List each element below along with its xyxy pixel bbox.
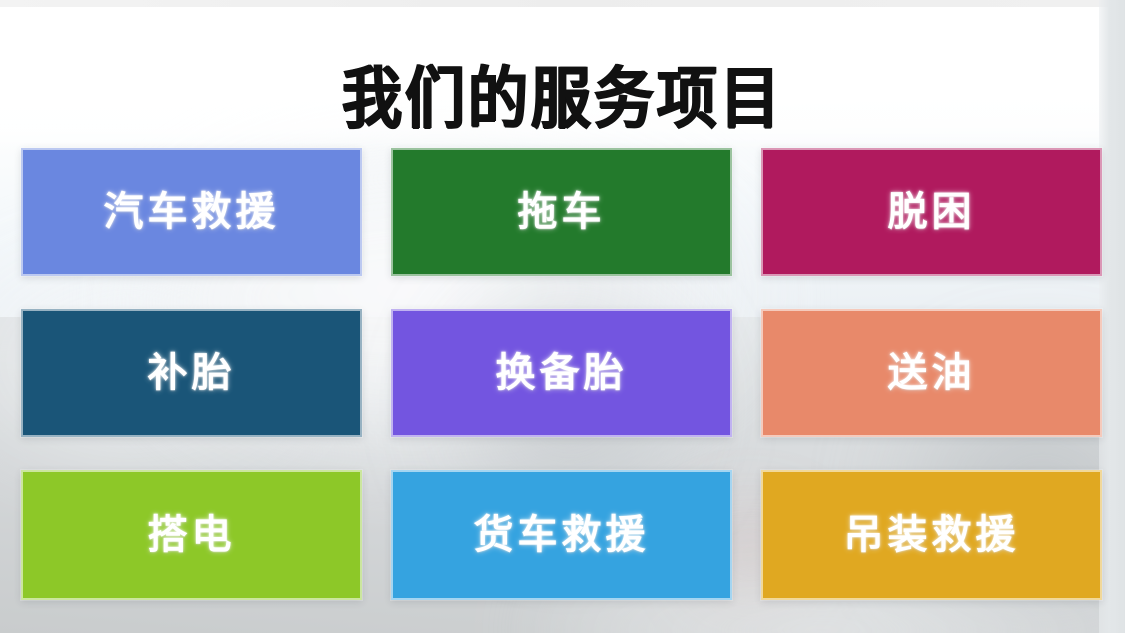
tile-truck-rescue[interactable]: 货车救援 bbox=[391, 470, 732, 600]
tile-label: 吊装救援 bbox=[844, 515, 1020, 555]
tile-label: 脱困 bbox=[888, 192, 976, 232]
tile-jump-start[interactable]: 搭电 bbox=[21, 470, 362, 600]
background-top-strip bbox=[0, 0, 1125, 7]
tile-label: 拖车 bbox=[518, 192, 606, 232]
service-poster: 我们的服务项目 汽车救援 拖车 脱困 补胎 换备胎 送油 搭电 货车救援 吊装救… bbox=[0, 0, 1125, 633]
tile-crane-rescue[interactable]: 吊装救援 bbox=[761, 470, 1102, 600]
tile-fuel-delivery[interactable]: 送油 bbox=[761, 309, 1102, 437]
tile-spare-tire-change[interactable]: 换备胎 bbox=[391, 309, 732, 437]
tile-label: 补胎 bbox=[148, 353, 236, 393]
tile-label: 送油 bbox=[888, 353, 976, 393]
tile-label: 换备胎 bbox=[496, 353, 628, 393]
page-title: 我们的服务项目 bbox=[342, 62, 783, 136]
page-title-container: 我们的服务项目 bbox=[0, 22, 1125, 168]
tile-tire-repair[interactable]: 补胎 bbox=[21, 309, 362, 437]
service-tile-grid: 汽车救援 拖车 脱困 补胎 换备胎 送油 搭电 货车救援 吊装救援 bbox=[21, 148, 1102, 600]
tile-label: 货车救援 bbox=[474, 515, 650, 555]
tile-label: 汽车救援 bbox=[104, 192, 280, 232]
tile-label: 搭电 bbox=[148, 515, 236, 555]
